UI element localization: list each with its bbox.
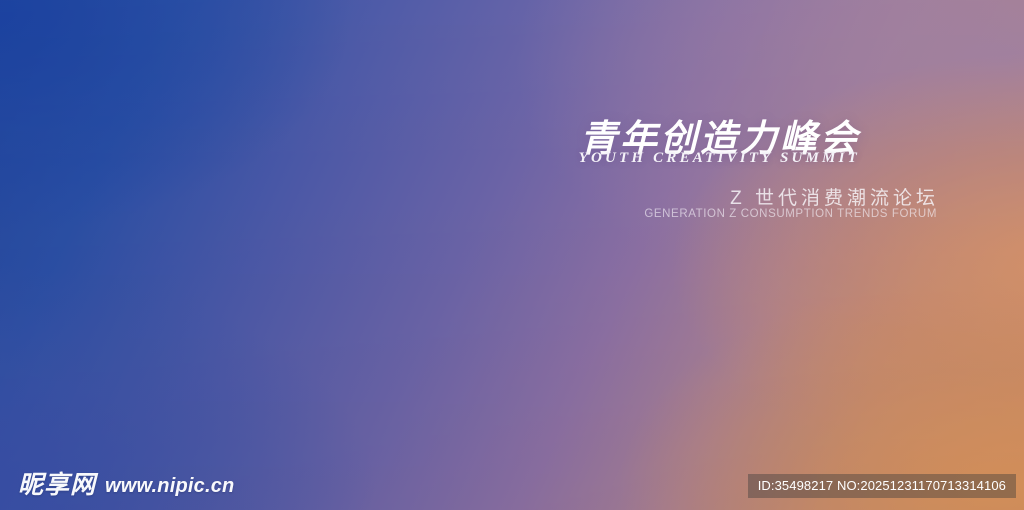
watermark-id-badge: ID:35498217 NO:20251231170713314106 [748,474,1016,498]
wave-ribbon-graphic-secondary [0,0,1024,510]
watermark-logo[interactable]: 昵享网 www.nipic.cn [18,473,234,498]
nipic-logo-url: www.nipic.cn [105,476,234,496]
poster-canvas: 青年创造力峰会 YOUTH CREATIVITY SUMMIT Z 世代消费潮流… [0,0,1024,510]
nipic-logo-mark: 昵享网 [18,473,96,498]
